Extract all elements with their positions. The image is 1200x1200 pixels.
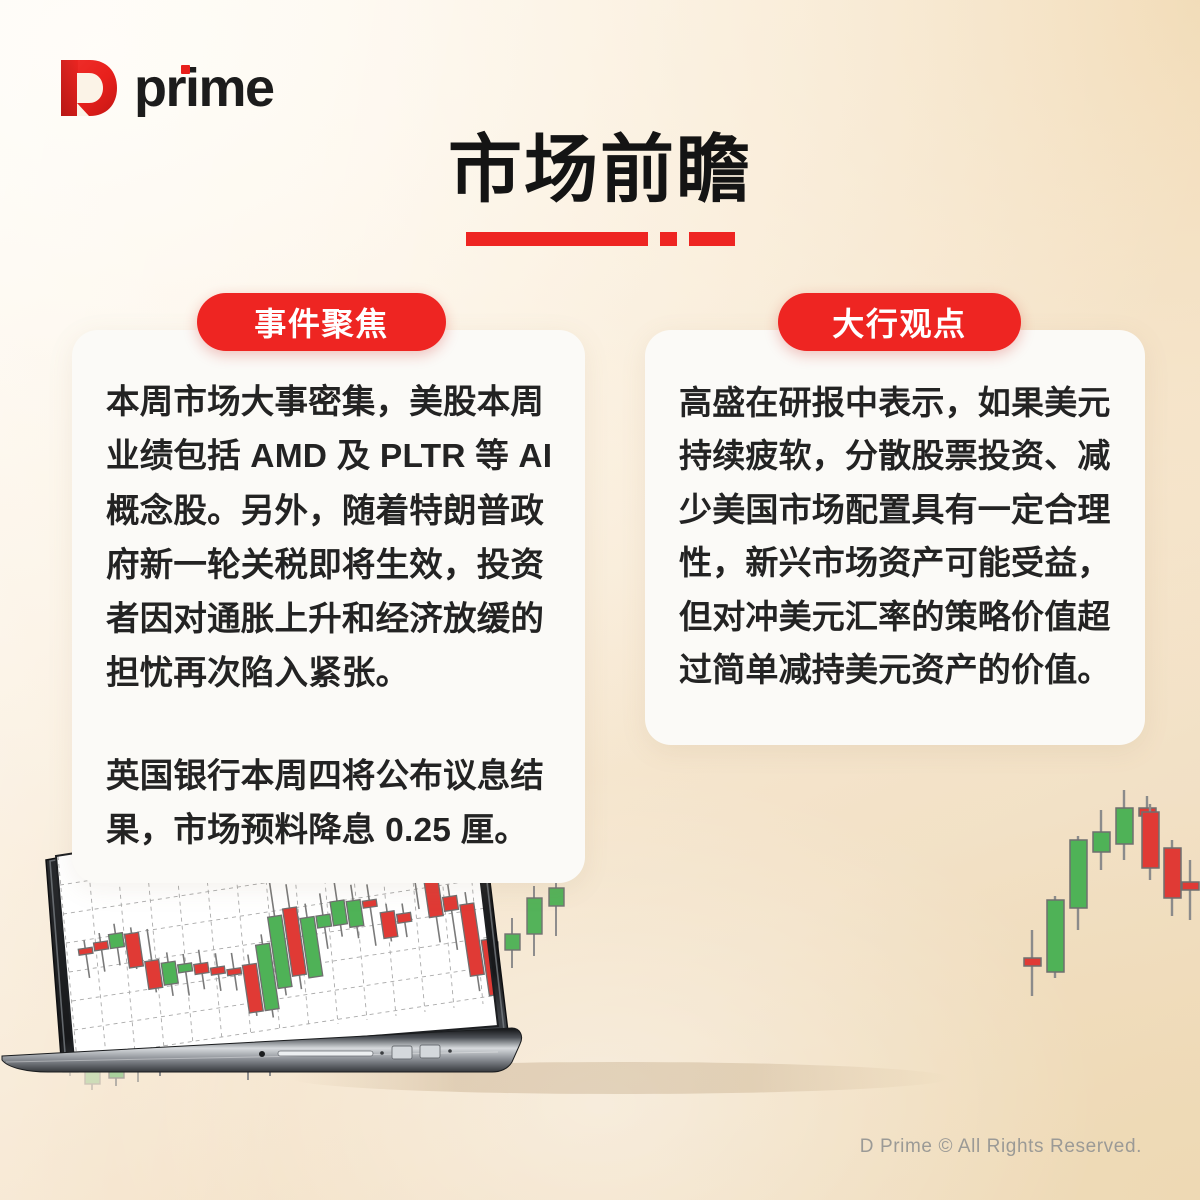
badge-label: 大行观点	[832, 299, 966, 345]
card-event-focus-body: 本周市场大事密集，美股本周业绩包括 AMD 及 PLTR 等 AI 概念股。另外…	[106, 376, 555, 859]
card-event-focus: 本周市场大事密集，美股本周业绩包括 AMD 及 PLTR 等 AI 概念股。另外…	[72, 330, 585, 883]
title-underline-decoration	[0, 232, 1200, 246]
wordmark: prime	[134, 61, 274, 115]
paragraph: 英国银行本周四将公布议息结果，市场预料降息 0.25 厘。	[106, 750, 555, 859]
badge-bank-views: 大行观点	[778, 293, 1021, 351]
underline-segment-long	[466, 232, 648, 246]
brand-logo: prime	[58, 57, 274, 119]
footer-copyright: D Prime © All Rights Reserved.	[860, 1136, 1142, 1158]
badge-label: 事件聚焦	[254, 299, 388, 345]
wordmark-text: prime	[134, 58, 274, 118]
paragraph: 本周市场大事密集，美股本周业绩包括 AMD 及 PLTR 等 AI 概念股。另外…	[106, 376, 555, 702]
card-bank-views: 高盛在研报中表示，如果美元持续疲软，分散股票投资、减少美国市场配置具有一定合理性…	[645, 330, 1145, 745]
d-prime-logo-icon	[58, 57, 120, 119]
paragraph: 高盛在研报中表示，如果美元持续疲软，分散股票投资、减少美国市场配置具有一定合理性…	[679, 376, 1115, 697]
underline-segment-dot	[660, 232, 677, 246]
wordmark-dot-icon	[181, 65, 190, 74]
right-candles	[1024, 790, 1199, 996]
badge-event-focus: 事件聚焦	[197, 293, 446, 351]
page-title: 市场前瞻	[0, 130, 1200, 210]
page-title-block: 市场前瞻	[0, 130, 1200, 246]
card-bank-views-body: 高盛在研报中表示，如果美元持续疲软，分散股票投资、减少美国市场配置具有一定合理性…	[679, 376, 1115, 697]
underline-segment-mid	[689, 232, 735, 246]
